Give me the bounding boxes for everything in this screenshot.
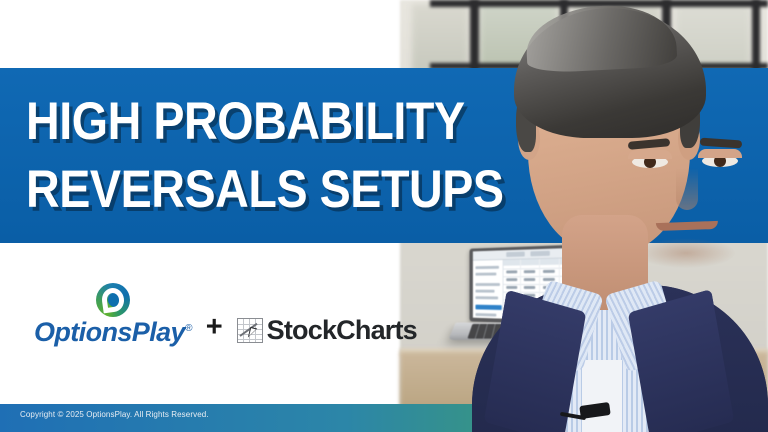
- optionsplay-wordmark: OptionsPlay®: [34, 319, 192, 346]
- plus-separator: +: [206, 313, 223, 346]
- stockcharts-logo: StockCharts: [237, 317, 417, 346]
- stockcharts-grid-cursor-icon: [237, 318, 263, 343]
- copyright-text: Copyright © 2025 OptionsPlay. All Rights…: [20, 410, 209, 419]
- logo-lockup: OptionsPlay® + StockCharts: [34, 262, 394, 346]
- optionsplay-circle-p-icon: [96, 283, 130, 317]
- undershirt-front: [582, 360, 622, 432]
- optionsplay-logo: OptionsPlay®: [34, 283, 192, 346]
- presenter-foreground: [452, 0, 768, 432]
- optionsplay-name: OptionsPlay: [34, 317, 185, 347]
- registered-mark: ®: [185, 323, 192, 334]
- stockcharts-wordmark: StockCharts: [267, 317, 417, 344]
- video-thumbnail: HIGH PROBABILITY REVERSALS SETUPS: [0, 0, 768, 432]
